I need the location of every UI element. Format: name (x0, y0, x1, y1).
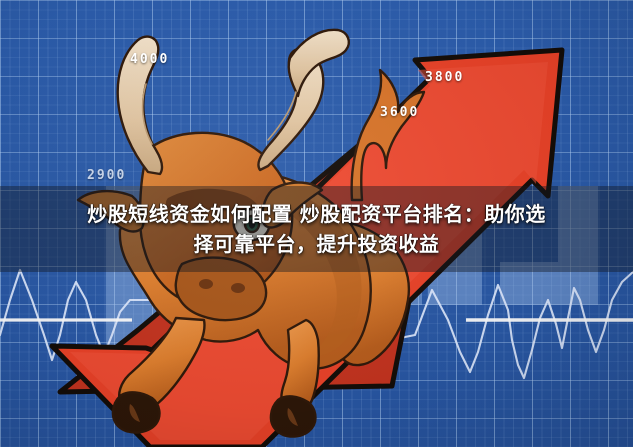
headline-line-1: 炒股短线资金如何配置 炒股配资平台排名：助你选 (87, 201, 545, 227)
label-3600: 3600 (380, 105, 419, 120)
headline-band: 炒股短线资金如何配置 炒股配资平台排名：助你选 择可靠平台，提升投资收益 (0, 186, 633, 272)
label-3800: 3800 (425, 70, 464, 85)
headline-line-2: 择可靠平台，提升投资收益 (194, 231, 440, 257)
label-4000: 4000 (130, 52, 169, 67)
banner-image: 4000 2900 3600 3800 炒股短线资金如何配置 炒股配资平台排名：… (0, 0, 633, 447)
label-2900: 2900 (87, 168, 126, 183)
